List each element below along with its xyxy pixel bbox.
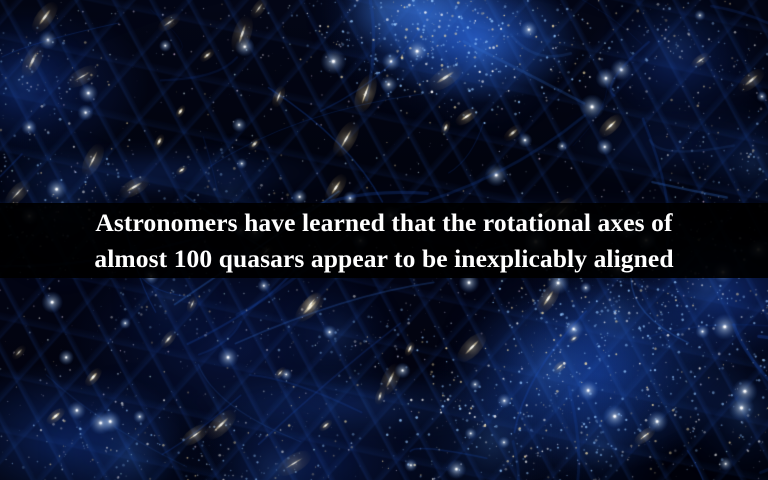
caption-line-1: Astronomers have learned that the rotati…	[95, 205, 672, 241]
caption-line-2: almost 100 quasars appear to be inexplic…	[94, 241, 673, 277]
caption-band: Astronomers have learned that the rotati…	[0, 203, 768, 278]
image-canvas: Astronomers have learned that the rotati…	[0, 0, 768, 480]
